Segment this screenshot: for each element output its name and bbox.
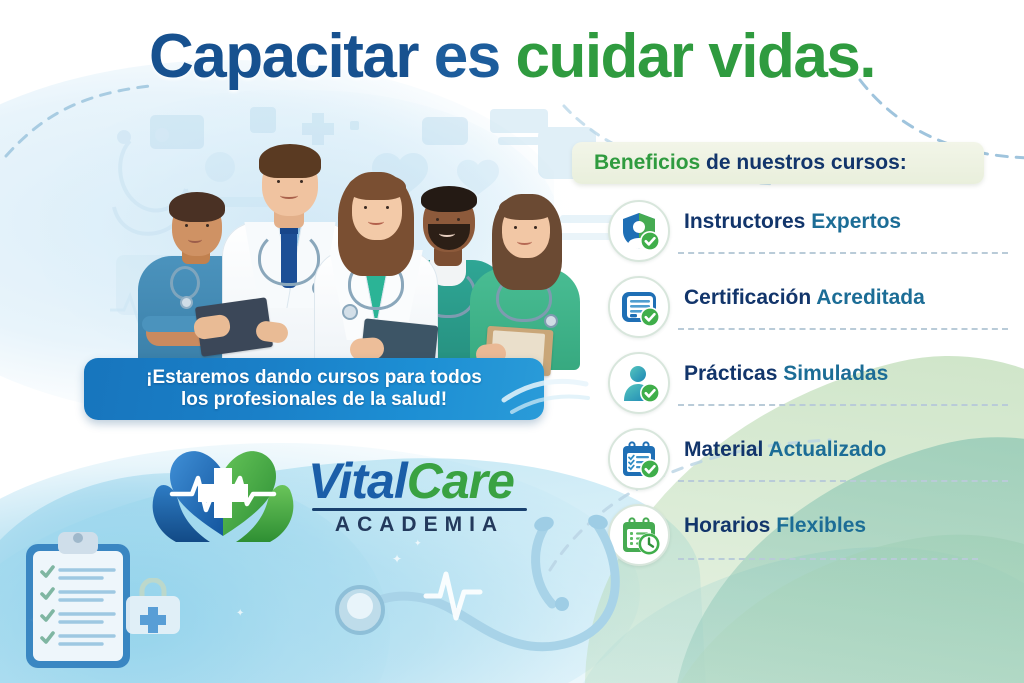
benefit-label: Prácticas Simuladas xyxy=(684,362,888,386)
list-item[interactable]: Material Actualizado xyxy=(600,424,1010,500)
person-female-doctor-white-coat xyxy=(314,158,438,370)
benefit-word-2: Acreditada xyxy=(816,286,925,309)
benefit-label: Instructores Expertos xyxy=(684,210,901,234)
medical-bag-decoration-icon xyxy=(122,578,184,638)
benefits-header-highlight: Beneficios xyxy=(594,151,700,174)
banner-swoosh-icon xyxy=(500,360,590,424)
benefit-word-1: Instructores xyxy=(684,210,805,233)
benefit-word-2: Actualizado xyxy=(768,438,886,461)
headline-part-1: Capacitar xyxy=(149,22,418,91)
shield-person-check-icon xyxy=(608,200,670,262)
poster-canvas: ✦ ✦ ✦ ✦ ✦ Capacitar es cuidar vidas. xyxy=(0,0,1024,683)
benefit-word-1: Certificación xyxy=(684,286,811,309)
brand-word-care: Care xyxy=(407,453,514,509)
benefits-header-panel: Beneficios de nuestros cursos: xyxy=(572,142,984,184)
list-item[interactable]: Horarios Flexibles xyxy=(600,500,1010,576)
person-silhouette-check-icon xyxy=(608,352,670,414)
benefits-header-text: Beneficios de nuestros cursos: xyxy=(594,151,907,175)
page-title: Capacitar es cuidar vidas. xyxy=(0,26,1024,88)
cta-line-2: los profesionales de la salud! xyxy=(181,389,447,410)
cta-banner: ¡Estaremos dando cursos para todos los p… xyxy=(84,358,544,420)
benefit-word-2: Expertos xyxy=(811,210,901,233)
benefit-label: Horarios Flexibles xyxy=(684,514,866,538)
headline-part-2: es xyxy=(418,22,515,91)
stethoscope-decoration-icon xyxy=(330,512,660,682)
benefit-word-1: Material xyxy=(684,438,763,461)
list-item[interactable]: Certificación Acreditada xyxy=(600,272,1010,348)
person-female-nurse-green-scrubs xyxy=(470,178,580,370)
sparkle-icon: ✦ xyxy=(236,608,244,619)
benefits-list: Instructores Expertos xyxy=(600,196,1010,576)
medical-team-illustration xyxy=(118,108,568,370)
headline-part-3: cuidar vidas. xyxy=(515,22,875,91)
heart-in-hands-with-cross-logo-icon xyxy=(148,438,298,548)
benefit-word-2: Flexibles xyxy=(776,514,866,537)
list-item[interactable]: Prácticas Simuladas xyxy=(600,348,1010,424)
list-divider xyxy=(678,480,1008,482)
brand-word-vital: Vital xyxy=(308,453,407,509)
clipboard-checklist-check-icon xyxy=(608,428,670,490)
certificate-document-check-icon xyxy=(608,276,670,338)
benefit-word-2: Simuladas xyxy=(783,362,888,385)
list-divider xyxy=(678,252,1008,254)
list-item[interactable]: Instructores Expertos xyxy=(600,196,1010,272)
cta-line-1: ¡Estaremos dando cursos para todos xyxy=(146,367,482,388)
benefit-label: Certificación Acreditada xyxy=(684,286,925,310)
benefit-label: Material Actualizado xyxy=(684,438,886,462)
benefits-header-rest: de nuestros cursos: xyxy=(700,151,907,174)
benefit-word-1: Prácticas xyxy=(684,362,777,385)
benefit-word-1: Horarios xyxy=(684,514,770,537)
cta-banner-text: ¡Estaremos dando cursos para todos los p… xyxy=(146,367,482,411)
list-divider xyxy=(678,404,1008,406)
list-divider xyxy=(678,558,978,560)
brand-name-line: VitalCare xyxy=(308,456,527,506)
list-divider xyxy=(678,328,1008,330)
